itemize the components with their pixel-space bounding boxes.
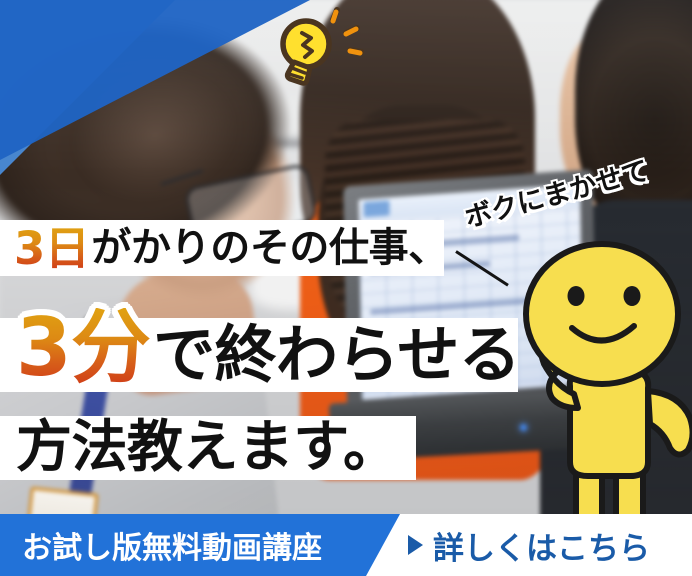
mascot-eye-right: [624, 286, 641, 306]
mascot-eye-left: [568, 286, 585, 306]
learn-more-link[interactable]: 詳しくはこちら: [408, 514, 650, 576]
free-trial-course-button[interactable]: お試し版無料動画講座: [0, 514, 400, 576]
promo-banner: 3日 がかりのその仕事、 3分 で終わらせる 方法教えます。 ボクにまかせて: [0, 0, 692, 576]
free-trial-course-label: お試し版無料動画講座: [22, 523, 322, 567]
headline-line-2: 3分 で終わらせる: [0, 318, 518, 392]
learn-more-label: 詳しくはこちら: [433, 523, 650, 568]
headline-accent-3days: 3日: [14, 226, 89, 271]
play-arrow-icon: [408, 535, 423, 555]
headline-line-3: 方法教えます。: [0, 416, 416, 480]
headline-accent-3min: 3分: [16, 308, 150, 388]
headline-line-3-text: 方法教えます。: [16, 420, 398, 476]
headline-line-1-text: がかりのその仕事、: [91, 228, 447, 268]
lightbulb-icon: [258, 6, 370, 90]
headline-line-2-text: で終わらせる: [153, 324, 520, 386]
headline-line-1: 3日 がかりのその仕事、: [0, 220, 444, 276]
yellow-mascot-character: [498, 236, 692, 536]
cta-bar: お試し版無料動画講座 詳しくはこちら: [0, 514, 692, 576]
